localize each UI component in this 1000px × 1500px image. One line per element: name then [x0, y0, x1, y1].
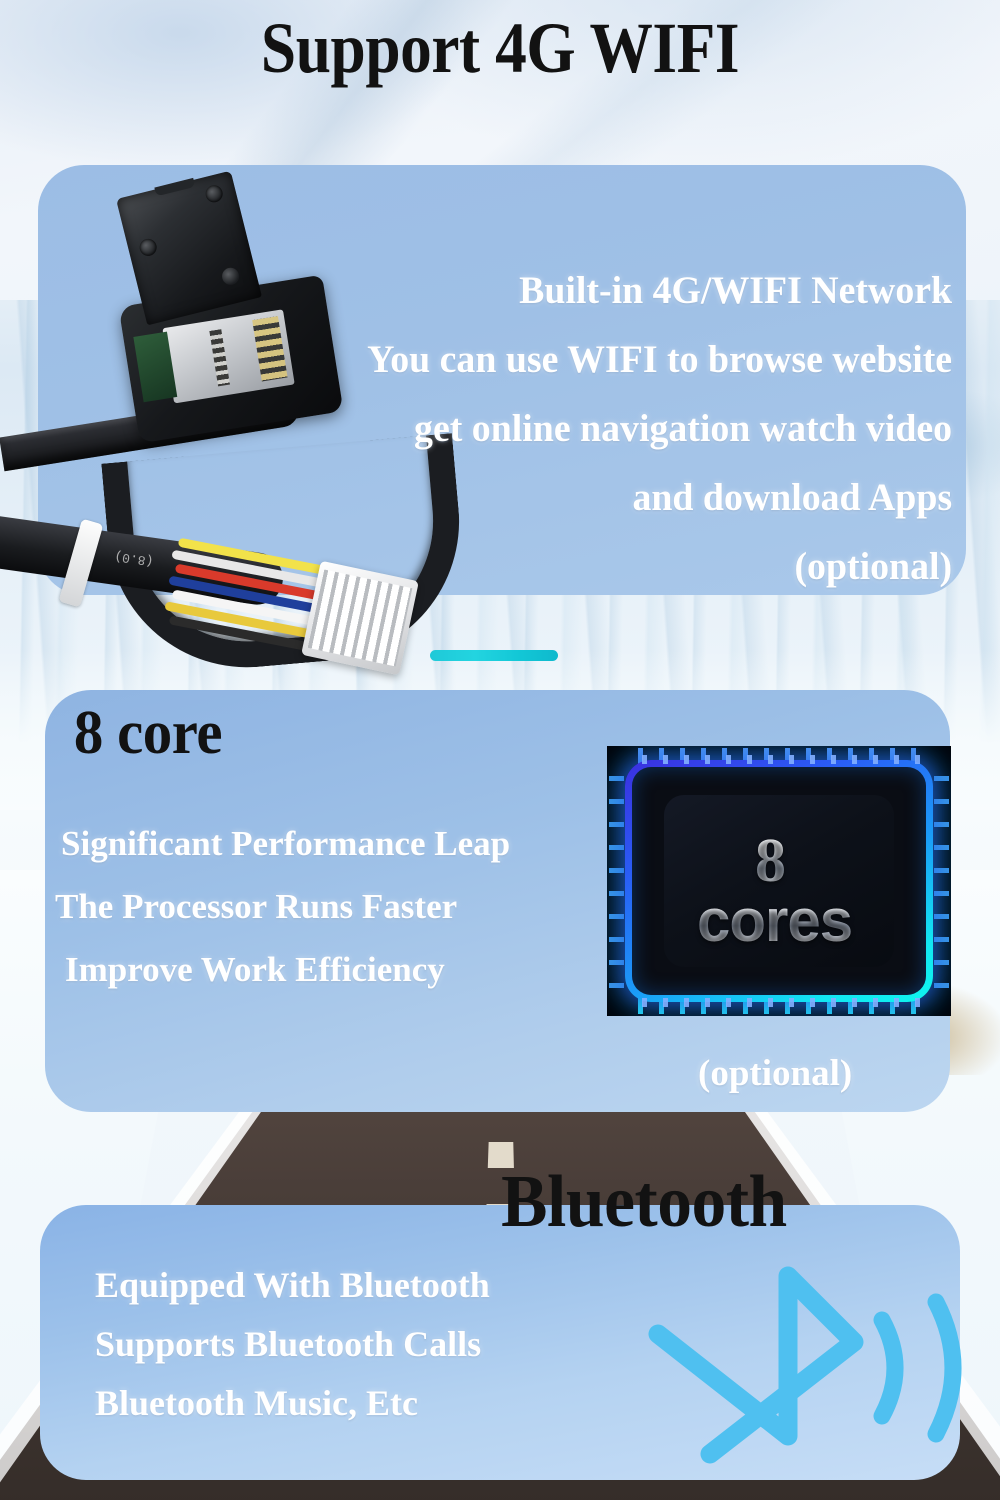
cpu-line-3: Improve Work Efficiency	[55, 938, 510, 1001]
page-title: Support 4G WIFI	[60, 12, 940, 84]
wifi-description: Built-in 4G/WIFI Network You can use WIF…	[367, 256, 952, 601]
wifi-line-1: Built-in 4G/WIFI Network	[367, 256, 952, 325]
cpu-description: Significant Performance Leap The Process…	[55, 812, 510, 1001]
octa-core-chip-image: 8 cores	[607, 746, 951, 1016]
product-feature-infographic: Support 4G WIFI (8.0)	[0, 0, 1000, 1500]
chip-core-count: 8	[755, 830, 786, 892]
section-divider-bar	[430, 650, 558, 661]
chip-trace-top	[633, 755, 925, 764]
cpu-optional-note: (optional)	[698, 1052, 852, 1095]
wifi-line-4: and download Apps	[367, 463, 952, 532]
chip-pins-right	[934, 768, 949, 994]
cable-marking: (8.0)	[114, 549, 155, 569]
chip-trace-bottom	[633, 998, 925, 1007]
bluetooth-description: Equipped With Bluetooth Supports Bluetoo…	[95, 1256, 490, 1433]
chip-pins-left	[609, 768, 624, 994]
bluetooth-line-2: Supports Bluetooth Calls	[95, 1315, 490, 1374]
wifi-optional-note: (optional)	[367, 532, 952, 601]
wifi-line-2: You can use WIFI to browse website	[367, 325, 952, 394]
cpu-heading: 8 core	[74, 698, 222, 769]
bluetooth-icon	[640, 1258, 970, 1478]
wifi-line-3: get online navigation watch video	[367, 394, 952, 463]
bluetooth-heading: Bluetooth	[501, 1160, 787, 1245]
bluetooth-line-3: Bluetooth Music, Etc	[95, 1374, 490, 1433]
chip-cores-label: cores	[697, 891, 852, 951]
sim-card-lid	[116, 171, 262, 326]
cpu-line-2: The Processor Runs Faster	[55, 875, 510, 938]
cpu-line-1: Significant Performance Leap	[55, 812, 510, 875]
bluetooth-line-1: Equipped With Bluetooth	[95, 1256, 490, 1315]
sim-card-tray	[162, 309, 294, 403]
